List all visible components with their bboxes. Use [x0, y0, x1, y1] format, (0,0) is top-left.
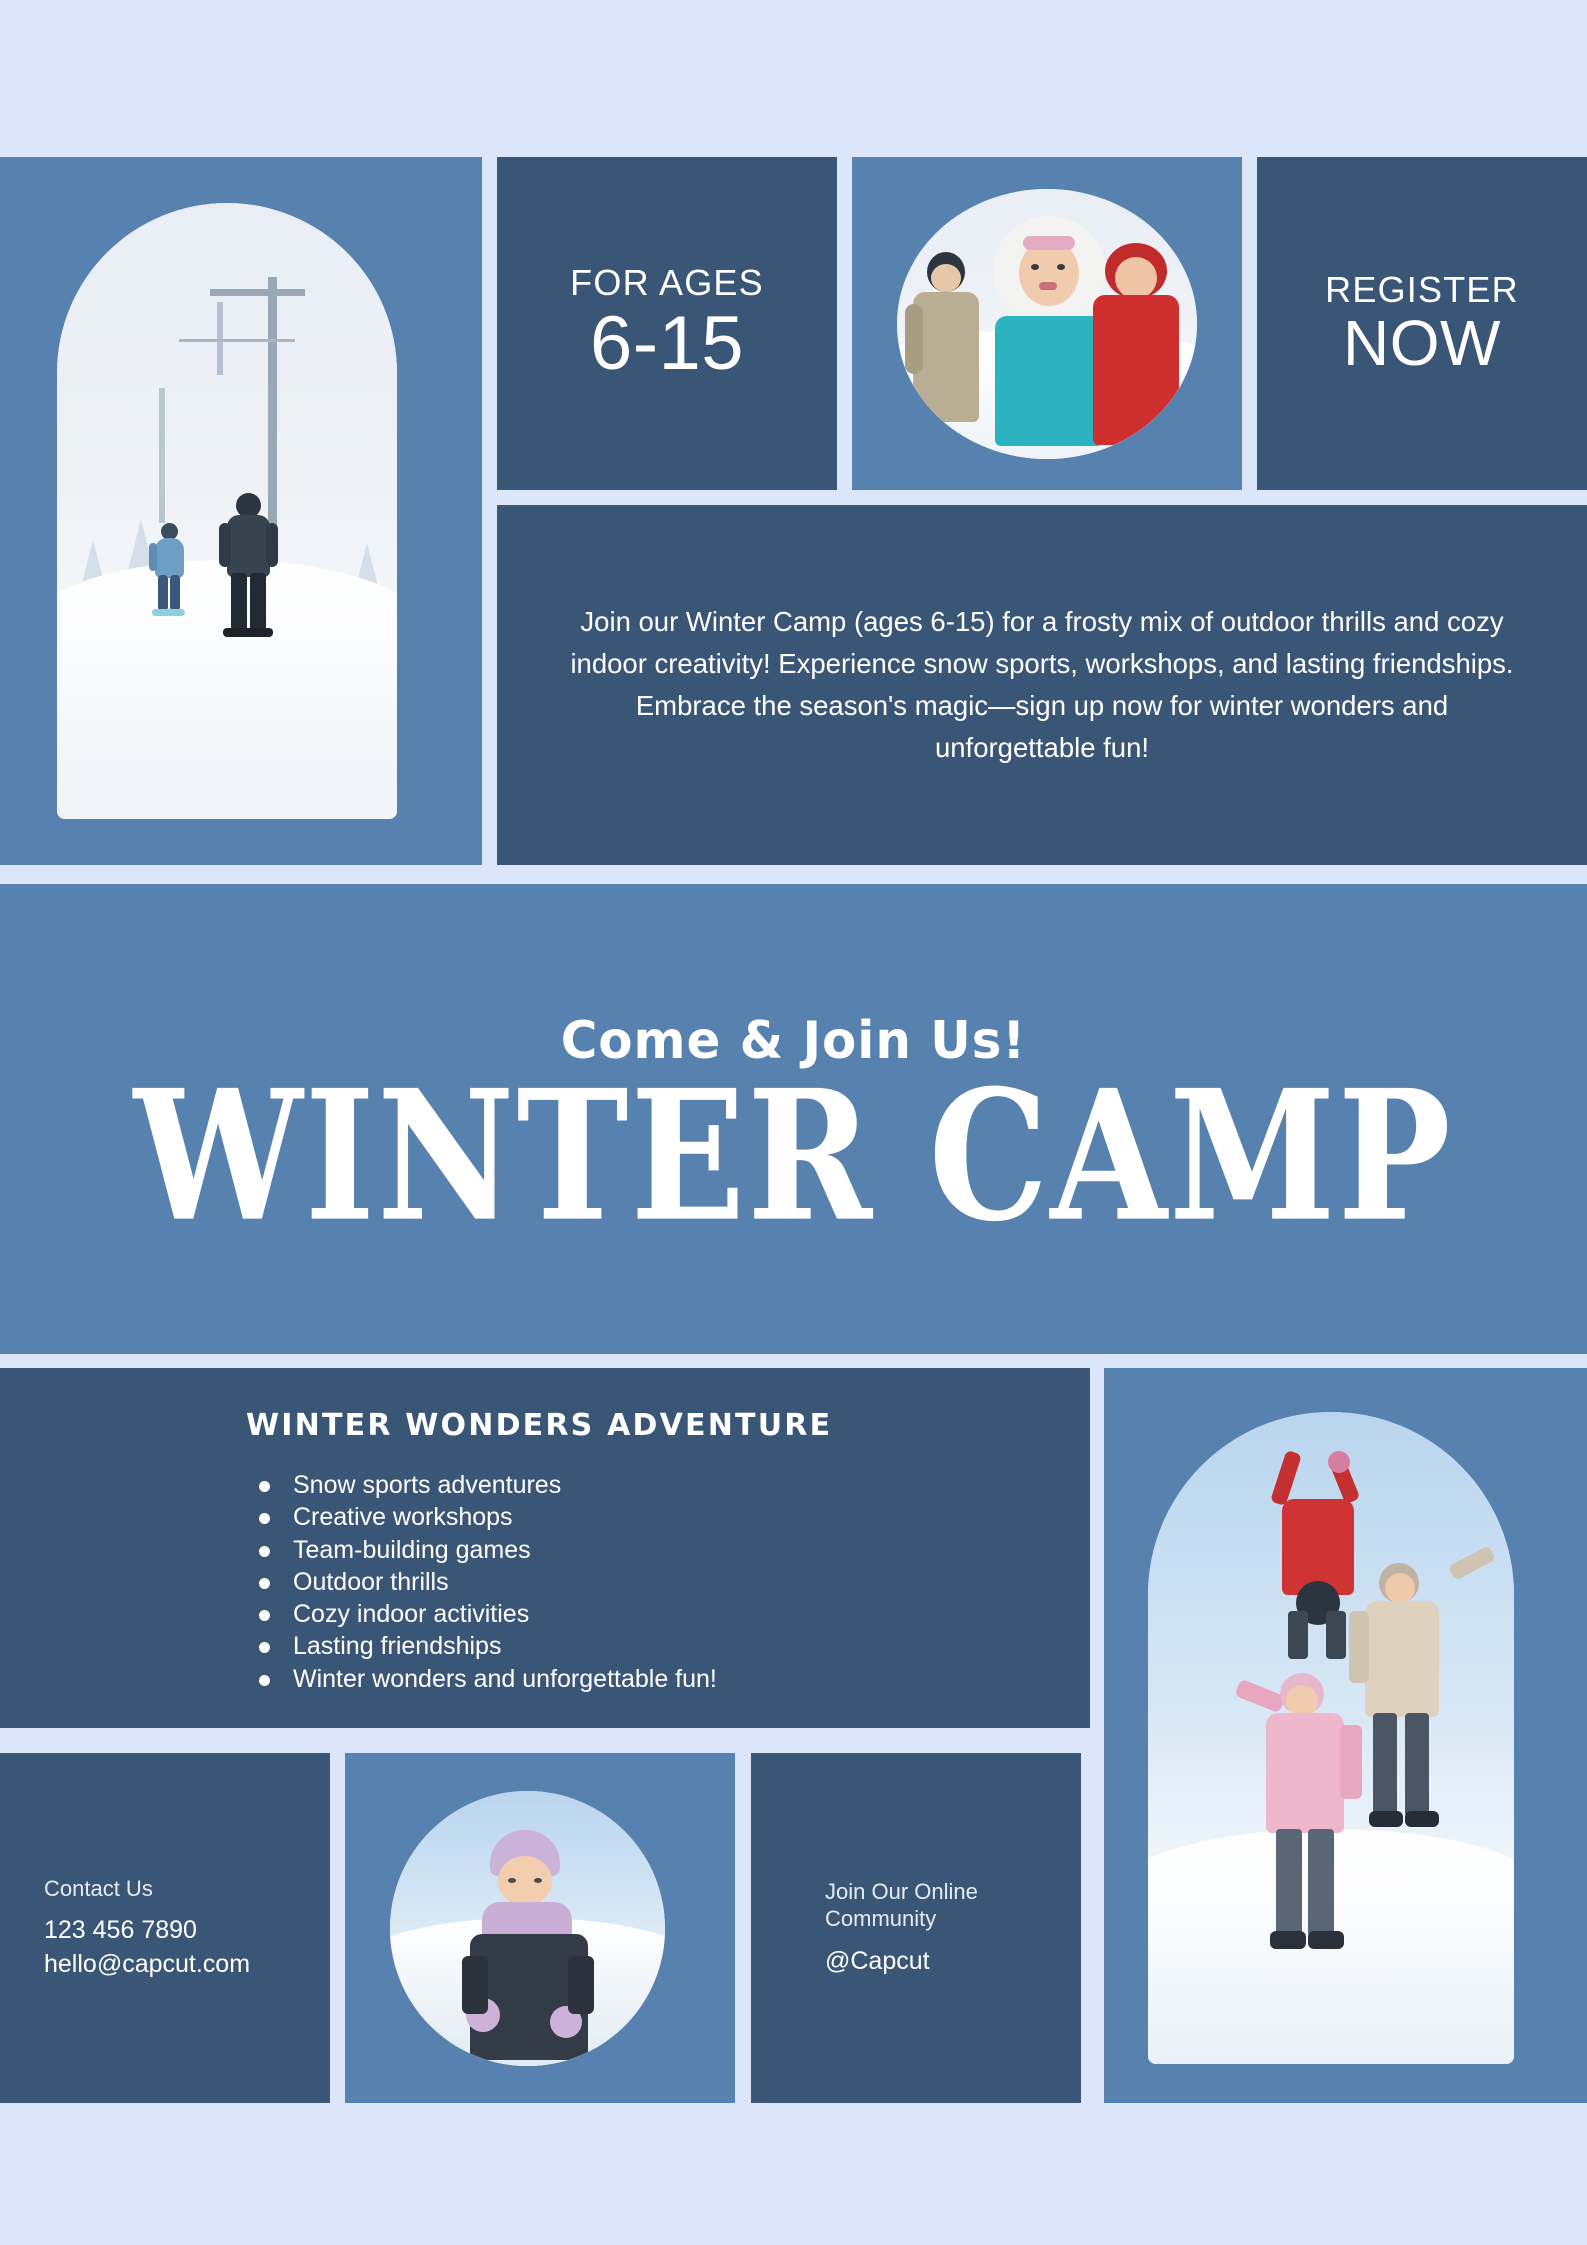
three-kids-scene: [897, 189, 1197, 459]
kids-photo-panel: [852, 157, 1242, 490]
figure-girl: [456, 1830, 606, 2060]
for-ages-value: 6-15: [590, 304, 744, 384]
contact-phone[interactable]: 123 456 7890: [44, 1914, 330, 1948]
figure-child-right: [1089, 243, 1185, 453]
list-item-label: Cozy indoor activities: [293, 1600, 529, 1628]
list-item: Team-building games: [246, 1534, 1090, 1566]
list-item: Outdoor thrills: [246, 1566, 1090, 1598]
hero-band: Come & Join Us! WINTER CAMP: [0, 884, 1587, 1354]
features-panel: WINTER WONDERS ADVENTURE Snow sports adv…: [0, 1368, 1090, 1728]
children-playing-scene: [1148, 1412, 1514, 2064]
for-ages-label: FOR AGES: [570, 263, 764, 303]
photo-girl: [390, 1791, 665, 2066]
bullet-icon: [259, 1513, 270, 1524]
bullet-icon: [259, 1610, 270, 1621]
register-value: NOW: [1343, 310, 1501, 377]
bullet-icon: [259, 1642, 270, 1653]
for-ages-panel: FOR AGES 6-15: [497, 157, 837, 490]
contact-heading: Contact Us: [44, 1875, 330, 1903]
ski-slope-scene: [57, 203, 397, 819]
hero-title: WINTER CAMP: [134, 1073, 1453, 1240]
photo-skiers: [57, 203, 397, 819]
figure-child-pink: [1236, 1673, 1386, 1963]
features-list: Snow sports adventures Creative workshop…: [246, 1469, 1090, 1695]
photo-kids: [897, 189, 1197, 459]
list-item-label: Creative workshops: [293, 1503, 513, 1531]
girl-in-snow-scene: [390, 1791, 665, 2066]
list-item-label: Team-building games: [293, 1536, 531, 1564]
list-item: Creative workshops: [246, 1501, 1090, 1533]
register-label: REGISTER: [1325, 270, 1519, 310]
list-item-label: Lasting friendships: [293, 1632, 501, 1660]
contact-panel: Contact Us 123 456 7890 hello@capcut.com: [0, 1753, 330, 2103]
girl-photo-panel: [345, 1753, 735, 2103]
list-item: Winter wonders and unforgettable fun!: [246, 1663, 1090, 1695]
features-heading: WINTER WONDERS ADVENTURE: [246, 1408, 1090, 1443]
list-item-label: Outdoor thrills: [293, 1568, 449, 1596]
list-item: Cozy indoor activities: [246, 1598, 1090, 1630]
intro-panel: Join our Winter Camp (ages 6-15) for a f…: [497, 505, 1587, 865]
bullet-icon: [259, 1675, 270, 1686]
community-heading: Join Our Online Community: [825, 1878, 1081, 1933]
figure-child-left: [903, 248, 987, 448]
register-now-panel[interactable]: REGISTER NOW: [1257, 157, 1587, 490]
list-item-label: Snow sports adventures: [293, 1471, 561, 1499]
skiers-photo-panel: [0, 157, 482, 865]
bullet-icon: [259, 1481, 270, 1492]
winter-camp-poster: FOR AGES 6-15: [0, 0, 1587, 2245]
community-handle[interactable]: @Capcut: [825, 1945, 1081, 1979]
figure-skier: [149, 523, 189, 619]
list-item-label: Winter wonders and unforgettable fun!: [293, 1665, 717, 1693]
bullet-icon: [259, 1546, 270, 1557]
figure-snowboarder: [217, 493, 279, 643]
photo-playing: [1148, 1412, 1514, 2064]
playing-photo-panel: [1104, 1368, 1587, 2103]
list-item: Snow sports adventures: [246, 1469, 1090, 1501]
intro-text: Join our Winter Camp (ages 6-15) for a f…: [562, 601, 1522, 768]
bullet-icon: [259, 1578, 270, 1589]
list-item: Lasting friendships: [246, 1630, 1090, 1662]
community-panel: Join Our Online Community @Capcut: [751, 1753, 1081, 2103]
contact-email[interactable]: hello@capcut.com: [44, 1948, 330, 1982]
